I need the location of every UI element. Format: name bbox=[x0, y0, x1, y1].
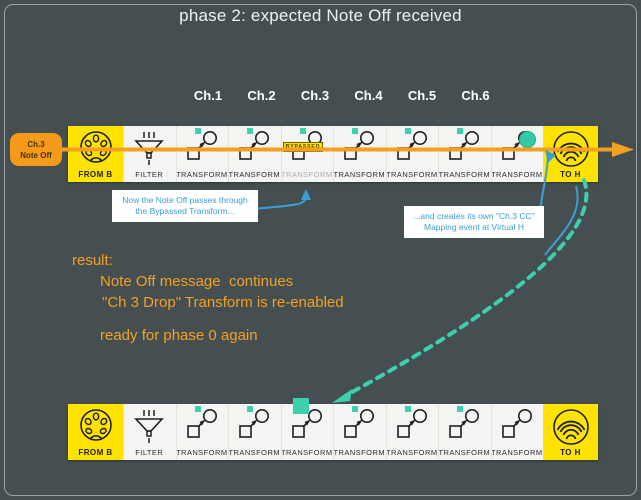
transform-icon bbox=[228, 130, 281, 168]
module-divider bbox=[386, 404, 387, 460]
module-from-b-0[interactable]: FROM B bbox=[68, 126, 123, 182]
module-label: TO H bbox=[543, 448, 598, 457]
module-to-h-9[interactable]: TO H bbox=[543, 126, 598, 182]
module-label: TRANSFORM bbox=[491, 170, 544, 179]
module-divider bbox=[123, 404, 124, 460]
module-label: TRANSFORM bbox=[281, 448, 334, 457]
module-transform-6[interactable]: TRANSFORM bbox=[386, 126, 439, 182]
module-label: FILTER bbox=[123, 170, 176, 179]
channel-tick-2 bbox=[247, 128, 253, 134]
module-divider bbox=[386, 126, 387, 182]
bypassed-badge: BYPASSED bbox=[283, 142, 324, 152]
module-transform-4[interactable]: TRANSFORM bbox=[281, 126, 334, 182]
module-divider bbox=[438, 126, 439, 182]
channel-label-2: Ch.2 bbox=[235, 88, 289, 103]
module-to-h-9[interactable]: TO H bbox=[543, 404, 598, 460]
module-label: TO H bbox=[543, 170, 598, 179]
module-label: FROM B bbox=[68, 448, 123, 457]
module-label: FILTER bbox=[123, 448, 176, 457]
module-label: TRANSFORM bbox=[281, 170, 334, 179]
channel-tick-6 bbox=[457, 406, 463, 412]
virtual-port-icon bbox=[543, 408, 598, 446]
diagram-canvas: phase 2: expected Note Off received Ch.1… bbox=[0, 0, 641, 500]
module-divider bbox=[491, 126, 492, 182]
bottom-pipeline-strip: FROM B FILTER TRANSFORM TRANSFORM TRANSF… bbox=[68, 404, 598, 460]
module-transform-8[interactable]: TRANSFORM bbox=[491, 404, 544, 460]
result-line-3: ready for phase 0 again bbox=[72, 325, 344, 346]
channel-label-1: Ch.1 bbox=[181, 88, 235, 103]
transform-icon bbox=[333, 408, 386, 446]
module-divider bbox=[176, 404, 177, 460]
result-heading: result: bbox=[72, 250, 344, 271]
module-transform-8[interactable]: TRANSFORM bbox=[491, 126, 544, 182]
channel-tick-4 bbox=[352, 406, 358, 412]
module-label: TRANSFORM bbox=[228, 170, 281, 179]
module-transform-3[interactable]: TRANSFORM bbox=[228, 126, 281, 182]
callout-left: Now the Note Off passes through the Bypa… bbox=[112, 190, 258, 222]
transform-icon bbox=[176, 408, 229, 446]
module-from-b-0[interactable]: FROM B bbox=[68, 404, 123, 460]
module-divider bbox=[228, 404, 229, 460]
module-transform-6[interactable]: TRANSFORM bbox=[386, 404, 439, 460]
transform-icon bbox=[386, 408, 439, 446]
channel-tick-3 bbox=[300, 128, 306, 134]
module-label: TRANSFORM bbox=[386, 448, 439, 457]
module-filter-1[interactable]: FILTER bbox=[123, 126, 176, 182]
source-badge-channel: Ch.3 bbox=[27, 139, 44, 150]
module-divider bbox=[281, 404, 282, 460]
module-label: TRANSFORM bbox=[228, 448, 281, 457]
module-label: FROM B bbox=[68, 170, 123, 179]
channel-tick-6 bbox=[457, 128, 463, 134]
module-transform-5[interactable]: TRANSFORM bbox=[333, 404, 386, 460]
funnel-icon bbox=[123, 130, 176, 168]
module-transform-3[interactable]: TRANSFORM bbox=[228, 404, 281, 460]
module-label: TRANSFORM bbox=[438, 170, 491, 179]
transform-icon bbox=[386, 130, 439, 168]
virtual-port-icon bbox=[543, 130, 598, 168]
result-line-1: Note Off message continues bbox=[72, 271, 344, 292]
channel-label-4: Ch.4 bbox=[342, 88, 396, 103]
transform-icon bbox=[333, 130, 386, 168]
page-title: phase 2: expected Note Off received bbox=[0, 6, 641, 26]
result-spacer bbox=[72, 313, 344, 325]
module-transform-7[interactable]: TRANSFORM bbox=[438, 126, 491, 182]
source-badge-type: Note Off bbox=[20, 150, 52, 161]
module-transform-2[interactable]: TRANSFORM bbox=[176, 126, 229, 182]
module-divider bbox=[176, 126, 177, 182]
module-filter-1[interactable]: FILTER bbox=[123, 404, 176, 460]
channel-label-6: Ch.6 bbox=[449, 88, 503, 103]
channel-target-marker bbox=[293, 398, 309, 414]
channel-tick-4 bbox=[352, 128, 358, 134]
module-transform-7[interactable]: TRANSFORM bbox=[438, 404, 491, 460]
channel-label-3: Ch.3 bbox=[288, 88, 342, 103]
module-transform-2[interactable]: TRANSFORM bbox=[176, 404, 229, 460]
module-label: TRANSFORM bbox=[333, 448, 386, 457]
result-text-block: result:Note Off message continues"Ch 3 D… bbox=[72, 250, 344, 346]
module-divider bbox=[333, 126, 334, 182]
module-divider bbox=[123, 126, 124, 182]
result-line-2: "Ch 3 Drop" Transform is re-enabled bbox=[72, 292, 344, 313]
channel-tick-1 bbox=[195, 128, 201, 134]
channel-tick-1 bbox=[195, 406, 201, 412]
funnel-icon bbox=[123, 408, 176, 446]
transform-icon bbox=[438, 408, 491, 446]
module-divider bbox=[333, 404, 334, 460]
module-divider bbox=[281, 126, 282, 182]
emitted-event-indicator bbox=[519, 131, 536, 148]
module-label: TRANSFORM bbox=[491, 448, 544, 457]
channel-tick-5 bbox=[405, 128, 411, 134]
source-event-badge: Ch.3 Note Off bbox=[10, 133, 62, 166]
module-label: TRANSFORM bbox=[176, 448, 229, 457]
midi-din-icon bbox=[68, 408, 123, 446]
module-divider bbox=[228, 126, 229, 182]
channel-tick-2 bbox=[247, 406, 253, 412]
channel-tick-5 bbox=[405, 406, 411, 412]
transform-icon bbox=[491, 408, 544, 446]
module-label: TRANSFORM bbox=[176, 170, 229, 179]
module-divider bbox=[491, 404, 492, 460]
transform-icon bbox=[228, 408, 281, 446]
module-transform-5[interactable]: TRANSFORM bbox=[333, 126, 386, 182]
callout-right: ...and creates its own "Ch.3 CC" Mapping… bbox=[404, 206, 544, 238]
module-divider bbox=[438, 404, 439, 460]
channel-label-5: Ch.5 bbox=[395, 88, 449, 103]
midi-din-icon bbox=[68, 130, 123, 168]
module-label: TRANSFORM bbox=[386, 170, 439, 179]
module-label: TRANSFORM bbox=[333, 170, 386, 179]
top-pipeline-strip: FROM B FILTER TRANSFORM TRANSFORM TRANSF… bbox=[68, 126, 598, 182]
transform-icon bbox=[176, 130, 229, 168]
transform-icon bbox=[438, 130, 491, 168]
module-label: TRANSFORM bbox=[438, 448, 491, 457]
